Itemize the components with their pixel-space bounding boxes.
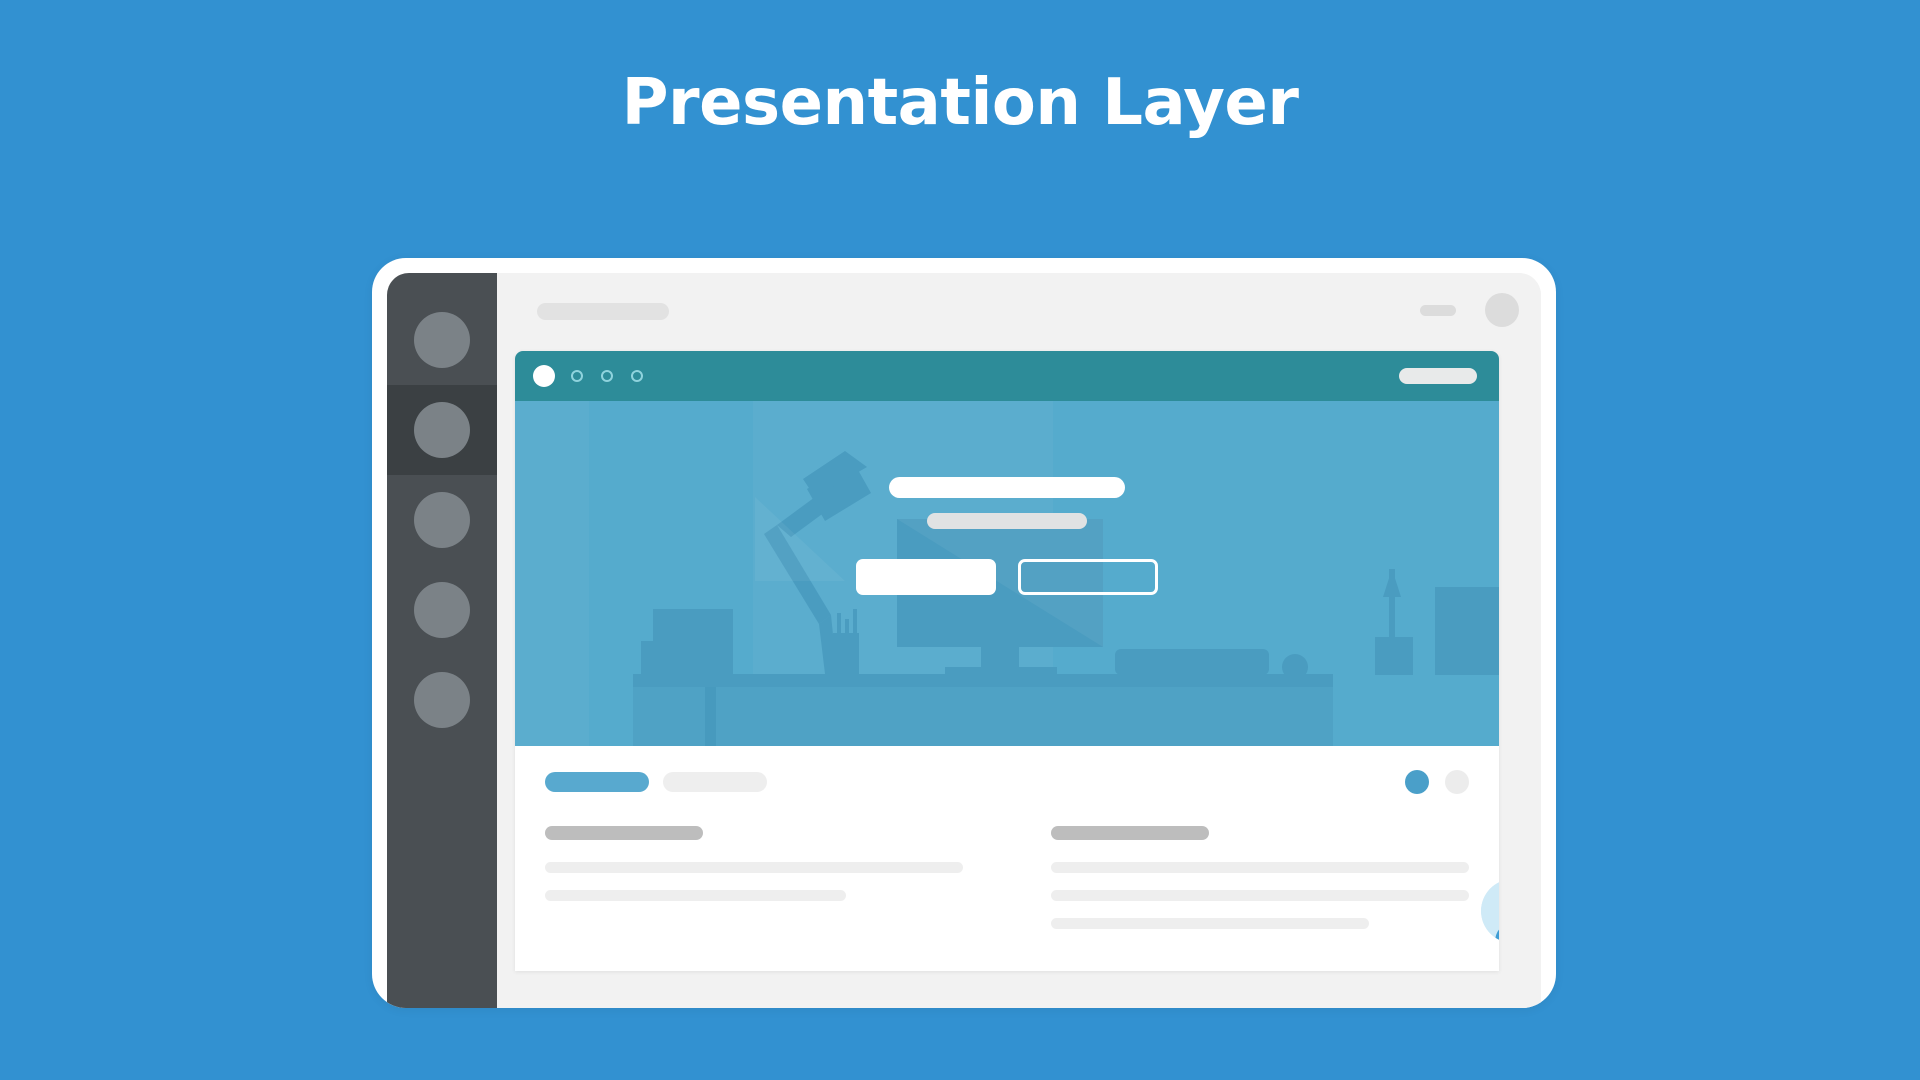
tablet-screen xyxy=(387,273,1541,1008)
address-bar[interactable] xyxy=(1399,368,1477,384)
content-tab-active[interactable] xyxy=(545,772,649,792)
app-sidebar xyxy=(387,273,497,1008)
pagination-dot-inactive[interactable] xyxy=(1445,770,1469,794)
app-bar-avatar[interactable] xyxy=(1485,293,1519,327)
browser-tab-icon-2[interactable] xyxy=(601,370,613,382)
sidebar-item-5[interactable] xyxy=(387,655,497,745)
app-top-bar xyxy=(497,273,1541,351)
sidebar-item-2[interactable] xyxy=(387,385,497,475)
sidebar-circle-icon xyxy=(414,312,470,368)
content-tab-inactive[interactable] xyxy=(663,772,767,792)
pagination-dots xyxy=(1405,770,1469,794)
column-heading-placeholder xyxy=(1051,826,1209,840)
content-column-right xyxy=(1051,826,1469,946)
browser-tab-icon-3[interactable] xyxy=(631,370,643,382)
content-columns xyxy=(545,826,1469,946)
app-bar-title-placeholder xyxy=(537,303,669,320)
hero-subheadline-placeholder xyxy=(927,513,1087,529)
slide-canvas: Presentation Layer xyxy=(0,0,1920,1080)
hero-headline-placeholder xyxy=(889,477,1125,498)
sidebar-circle-icon xyxy=(414,492,470,548)
browser-window xyxy=(515,351,1499,971)
column-heading-placeholder xyxy=(545,826,703,840)
browser-tab-icon-1[interactable] xyxy=(571,370,583,382)
hero-secondary-button[interactable] xyxy=(1018,559,1158,595)
text-line-placeholder xyxy=(545,862,963,873)
pagination-dot-active[interactable] xyxy=(1405,770,1429,794)
sidebar-circle-icon xyxy=(414,582,470,638)
text-line-placeholder xyxy=(1051,890,1469,901)
text-line-placeholder xyxy=(545,890,846,901)
app-main-panel xyxy=(497,273,1541,1008)
browser-chrome-bar xyxy=(515,351,1499,401)
user-avatar[interactable] xyxy=(1481,879,1499,943)
hero-copy-block xyxy=(515,477,1499,595)
person-avatar-icon xyxy=(1481,879,1499,943)
minimize-icon[interactable] xyxy=(1420,305,1456,316)
page-title: Presentation Layer xyxy=(0,68,1920,138)
content-section xyxy=(515,746,1499,971)
sidebar-item-3[interactable] xyxy=(387,475,497,565)
sidebar-item-4[interactable] xyxy=(387,565,497,655)
tablet-device xyxy=(372,258,1556,1008)
browser-active-tab-icon[interactable] xyxy=(533,365,555,387)
content-column-left xyxy=(545,826,963,946)
hero-section xyxy=(515,401,1499,746)
sidebar-item-1[interactable] xyxy=(387,295,497,385)
hero-button-group xyxy=(856,559,1158,595)
text-line-placeholder xyxy=(1051,918,1369,929)
sidebar-circle-icon xyxy=(414,672,470,728)
sidebar-circle-icon xyxy=(414,402,470,458)
content-tabs xyxy=(545,772,1469,792)
text-line-placeholder xyxy=(1051,862,1469,873)
hero-primary-button[interactable] xyxy=(856,559,996,595)
